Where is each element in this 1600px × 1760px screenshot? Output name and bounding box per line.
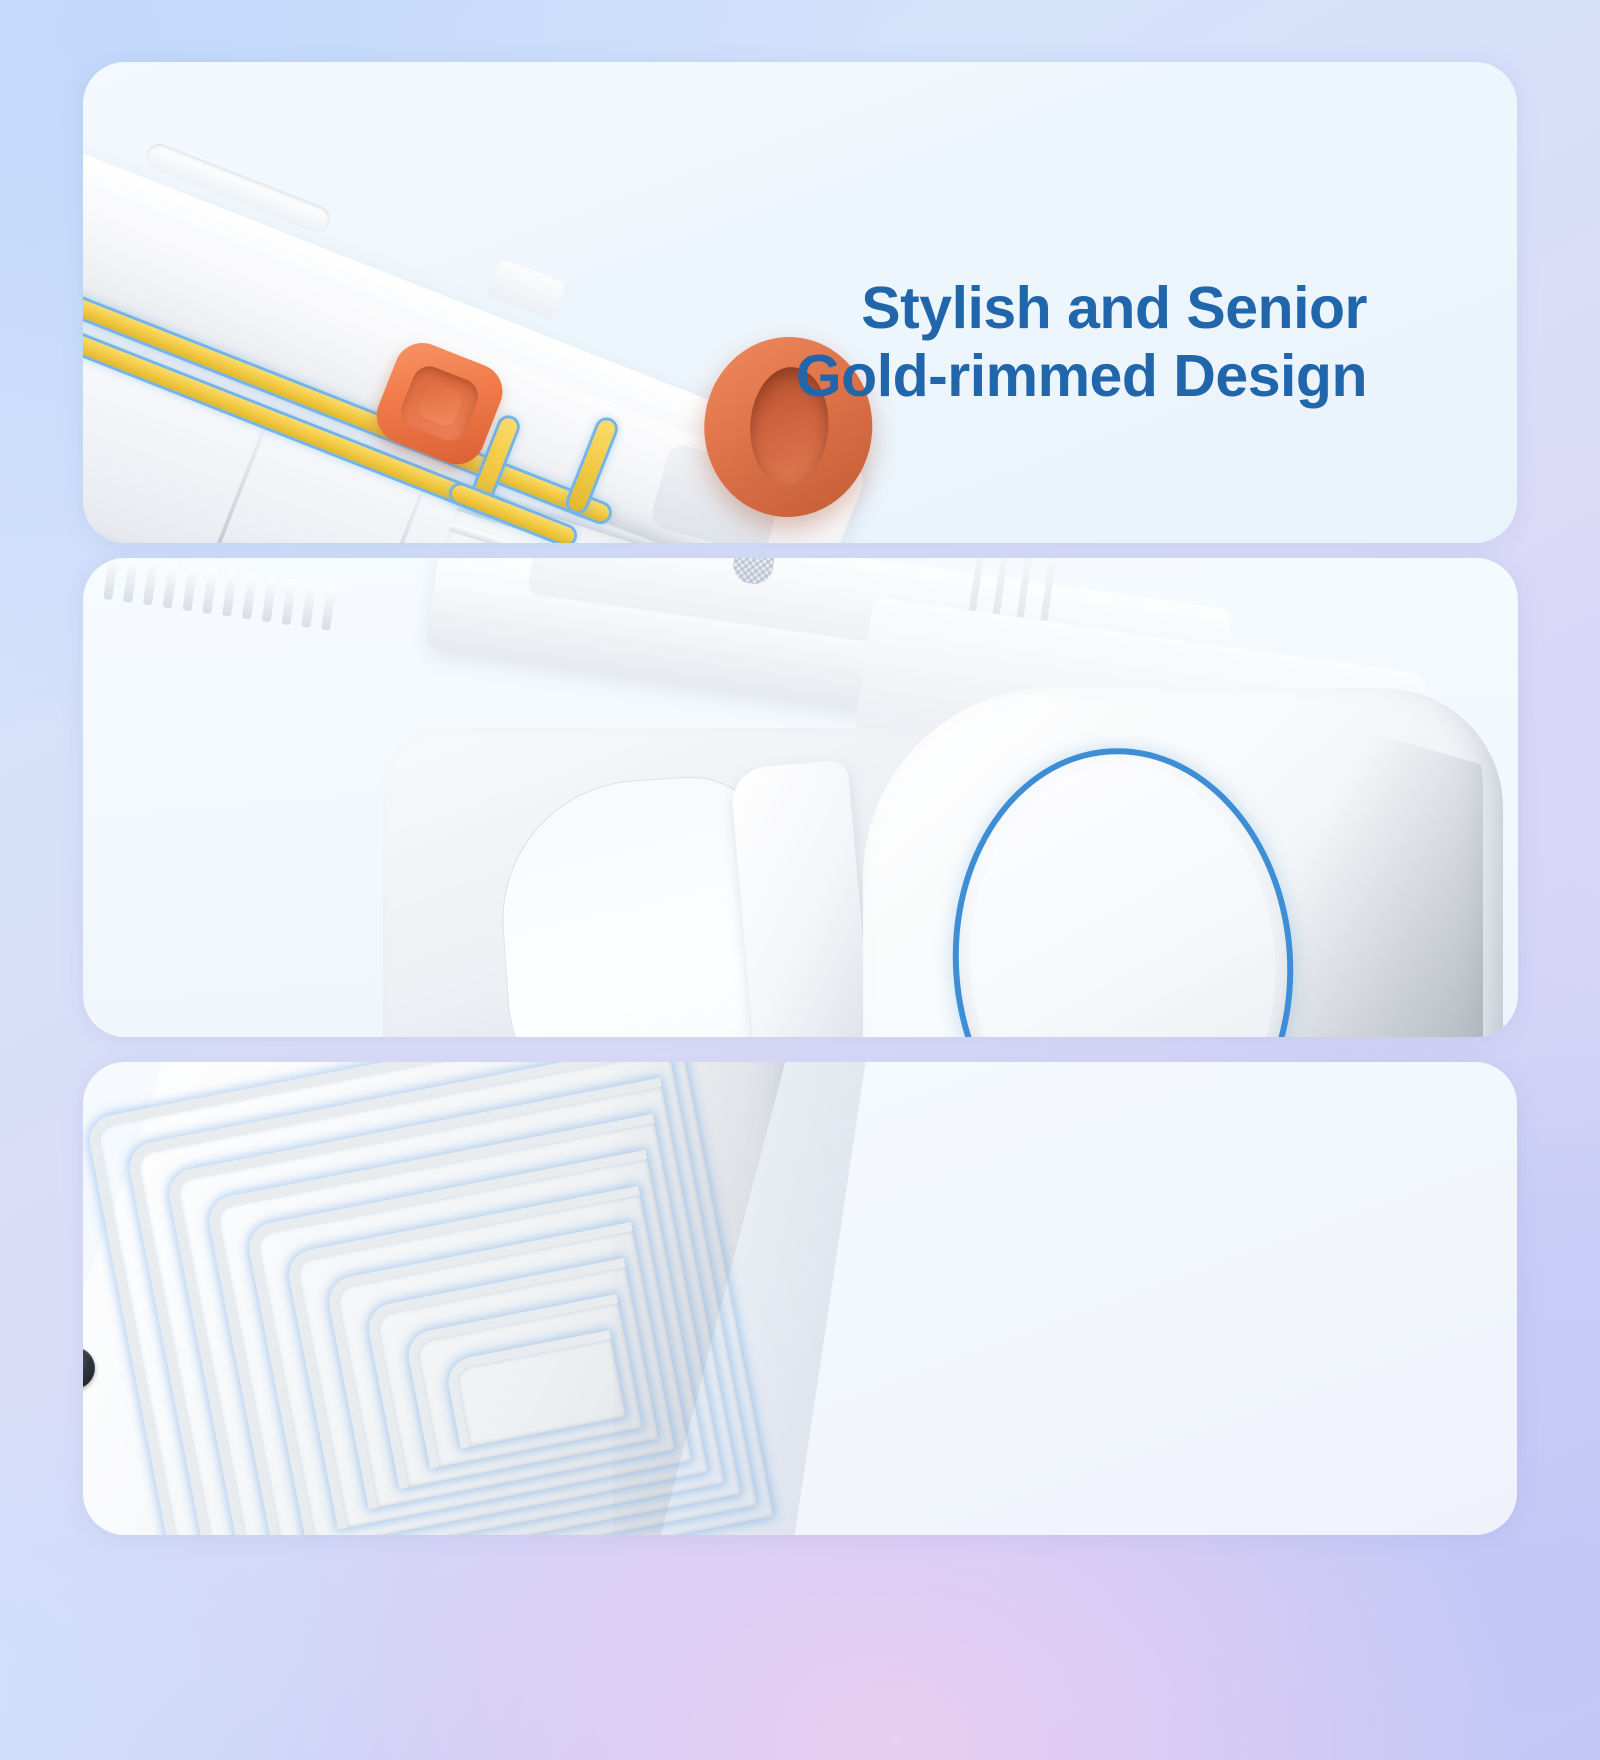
water-gun-grip-illustration: [83, 1062, 913, 1535]
water-gun-trigger-illustration: [393, 558, 1518, 1037]
panel-3-product-photo: [83, 1062, 1517, 1535]
orange-button-core: [416, 380, 465, 428]
gun-front-sight: [487, 258, 567, 321]
feature-panel-stylish-design: Stylish and Senior Gold-rimmed Design: [83, 62, 1517, 543]
anti-slip-groove-pattern: [85, 1062, 820, 1535]
feature-panel-realistic-shooting: Realistic Sh00ting Experience: [83, 558, 1518, 1037]
feature-panel-ergonomic-grip: Ergonomic Design for Comfortable Grip: [83, 1062, 1517, 1535]
panel-2-product-photo: [83, 558, 1518, 1037]
gun-barrel-serrations: [100, 558, 466, 673]
orange-button-inner-bezel: [396, 361, 483, 445]
panel-1-heading: Stylish and Senior Gold-rimmed Design: [796, 274, 1367, 411]
